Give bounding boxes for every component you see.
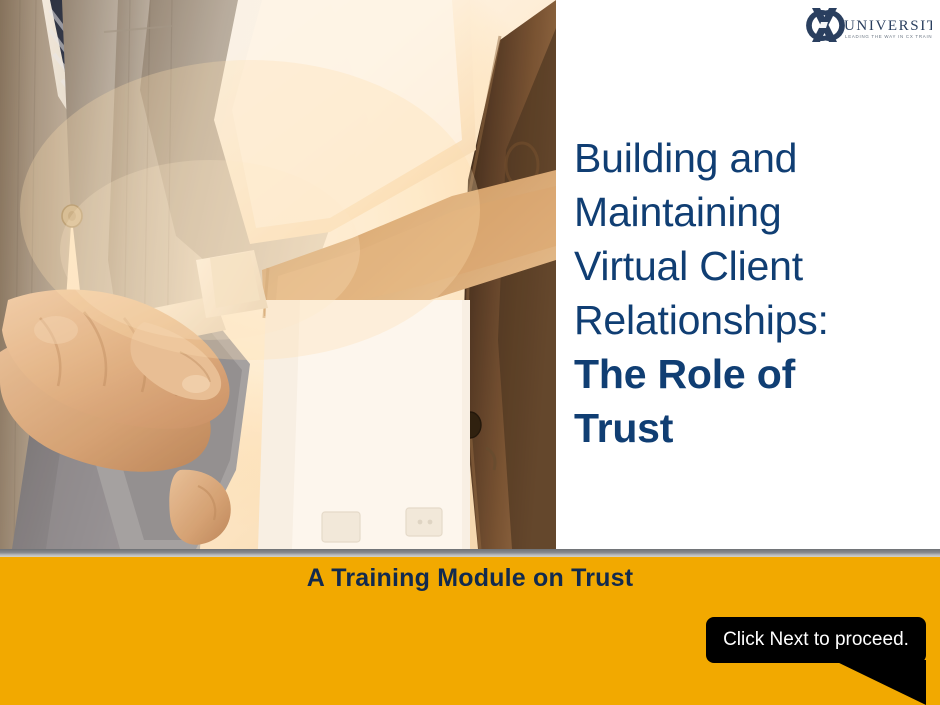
handshake-illustration	[0, 0, 556, 549]
click-next-callout: Click Next to proceed.	[706, 617, 926, 663]
callout-tail-shape	[833, 660, 926, 705]
title-line-1: Building and	[574, 131, 924, 185]
title-emphasis-line-2: Trust	[574, 401, 924, 455]
page-title: Building and Maintaining Virtual Client …	[574, 131, 924, 455]
horizontal-divider	[0, 549, 940, 557]
cx-monogram-icon	[806, 8, 845, 42]
title-line-2: Maintaining	[574, 185, 924, 239]
title-slide: UNIVERSITY LEADING THE WAY IN CX TRAININ…	[0, 0, 940, 705]
logo-tagline: LEADING THE WAY IN CX TRAINING	[845, 34, 932, 39]
cx-university-logo: UNIVERSITY LEADING THE WAY IN CX TRAININ…	[792, 2, 932, 48]
title-emphasis-line-1: The Role of	[574, 347, 924, 401]
callout-tail	[833, 660, 926, 705]
logo-wordmark: UNIVERSITY	[844, 18, 932, 34]
subtitle: A Training Module on Trust	[0, 564, 940, 593]
title-line-3: Virtual Client	[574, 239, 924, 293]
title-line-4: Relationships:	[574, 293, 924, 347]
callout-text: Click Next to proceed.	[706, 617, 926, 663]
hero-photo-handshake	[0, 0, 556, 549]
cx-university-logo-mark: UNIVERSITY LEADING THE WAY IN CX TRAININ…	[792, 2, 932, 48]
